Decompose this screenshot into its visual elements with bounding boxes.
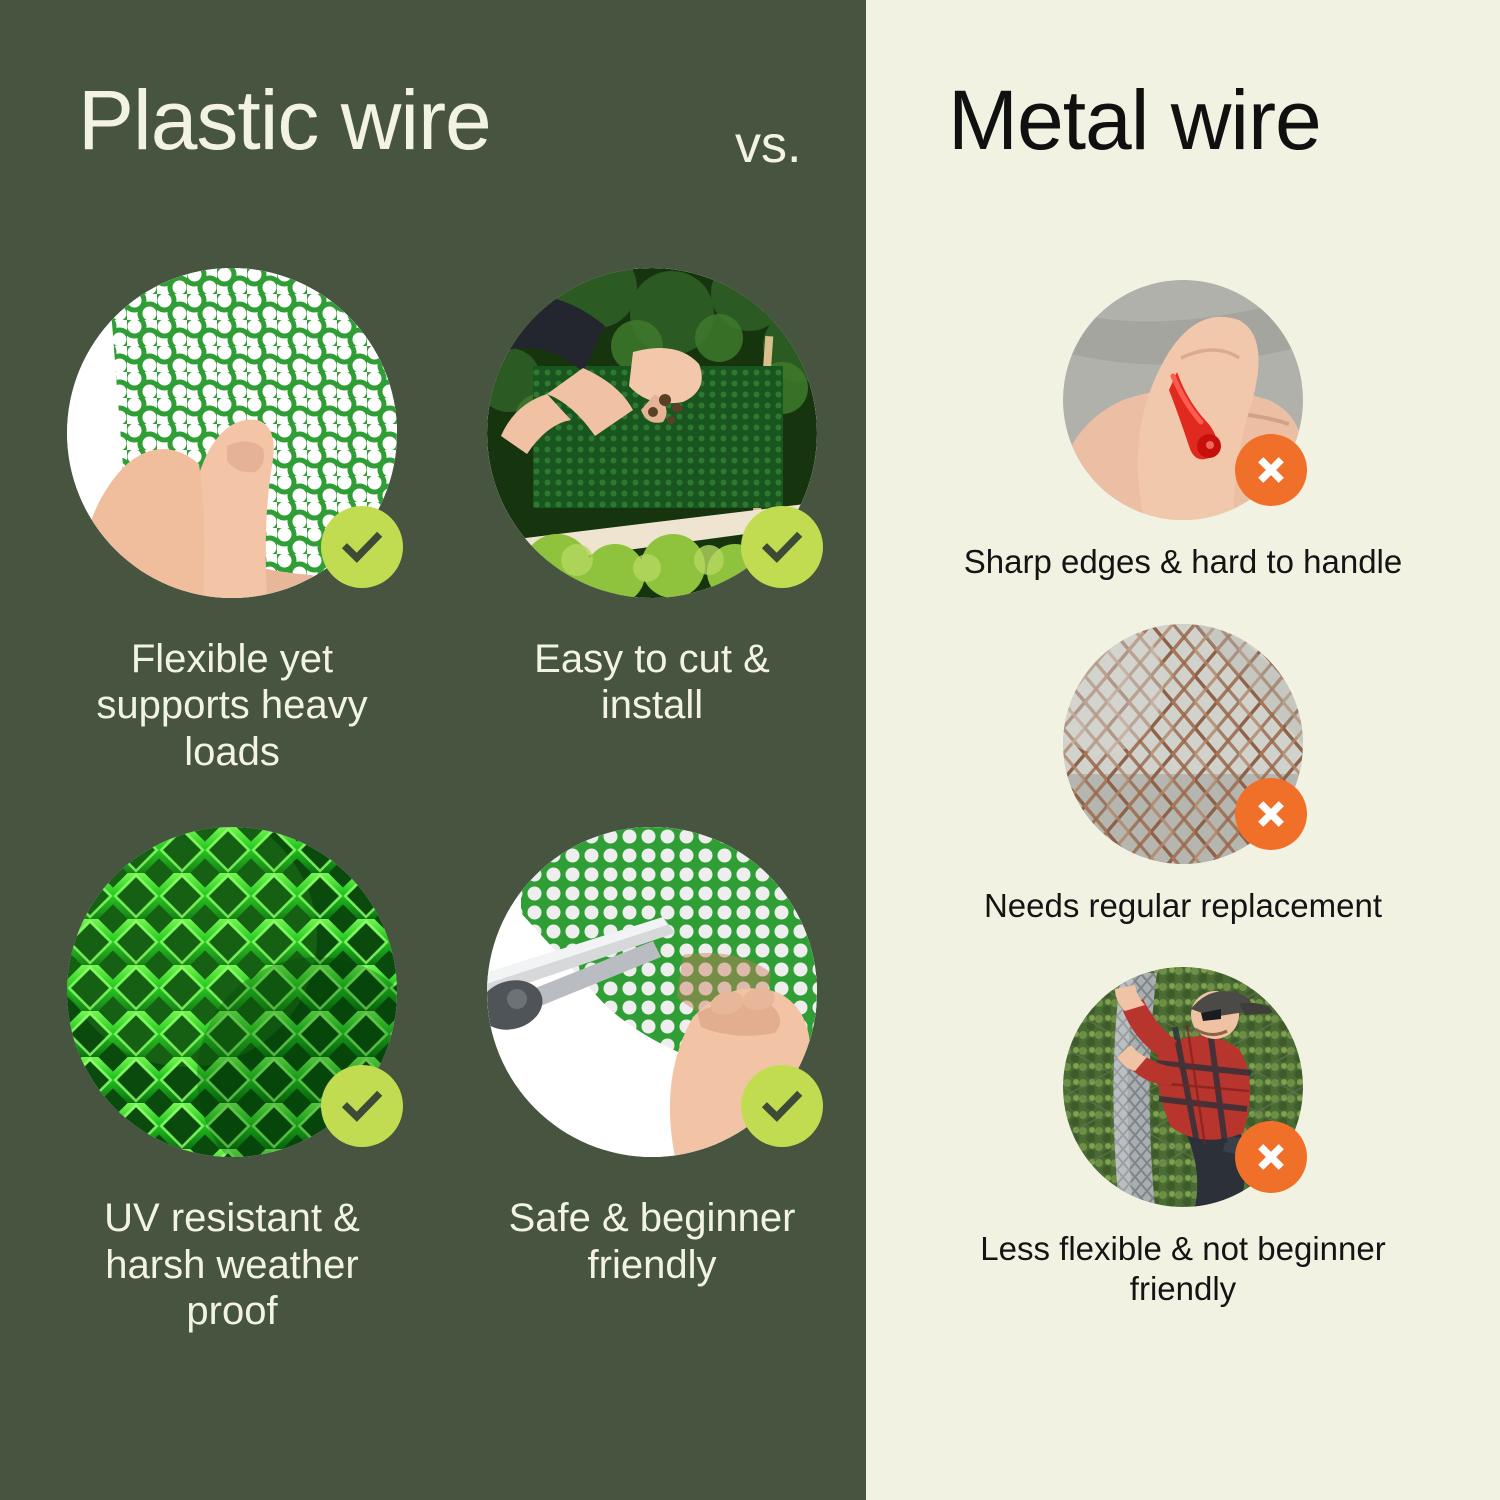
- check-icon: [741, 506, 823, 588]
- image-badge-wrap: [1063, 280, 1303, 520]
- drawback-caption: Less flexible & not beginner friendly: [923, 1229, 1443, 1308]
- benefit-caption: UV resistant & harsh weather proof: [62, 1195, 402, 1334]
- drawback-card-sharp-edges: Sharp edges & hard to handle: [903, 280, 1463, 582]
- benefit-caption: Safe & beginner friendly: [482, 1195, 822, 1288]
- vs-label: vs.: [735, 115, 801, 175]
- cross-icon: [1235, 1121, 1307, 1193]
- cross-icon: [1235, 434, 1307, 506]
- check-icon: [741, 1065, 823, 1147]
- image-badge-wrap: [487, 827, 817, 1157]
- image-badge-wrap: [1063, 967, 1303, 1207]
- benefit-card-flexible: Flexible yet supports heavy loads: [22, 268, 442, 775]
- page-title-metal: Metal wire: [948, 78, 1321, 162]
- page-title-plastic: Plastic wire: [78, 78, 491, 162]
- benefit-card-easy-install: Easy to cut & install: [442, 268, 862, 775]
- plastic-benefit-grid: Flexible yet supports heavy loads: [0, 268, 866, 1334]
- benefit-card-safe-beginner: Safe & beginner friendly: [442, 827, 862, 1334]
- benefit-caption: Flexible yet supports heavy loads: [62, 636, 402, 775]
- image-badge-wrap: [487, 268, 817, 598]
- image-badge-wrap: [67, 827, 397, 1157]
- benefit-card-uv-resistant: UV resistant & harsh weather proof: [22, 827, 442, 1334]
- metal-drawback-list: Sharp edges & hard to handle: [866, 280, 1500, 1308]
- plastic-wire-panel: Plastic wire vs.: [0, 0, 866, 1500]
- drawback-card-less-flexible: Less flexible & not beginner friendly: [903, 967, 1463, 1308]
- check-icon: [321, 506, 403, 588]
- image-badge-wrap: [67, 268, 397, 598]
- drawback-caption: Sharp edges & hard to handle: [923, 542, 1443, 582]
- benefit-caption: Easy to cut & install: [482, 636, 822, 729]
- drawback-card-replacement: Needs regular replacement: [903, 624, 1463, 926]
- comparison-infographic: Plastic wire vs.: [0, 0, 1500, 1500]
- metal-wire-panel: Metal wire: [866, 0, 1500, 1500]
- check-icon: [321, 1065, 403, 1147]
- drawback-caption: Needs regular replacement: [923, 886, 1443, 926]
- image-badge-wrap: [1063, 624, 1303, 864]
- cross-icon: [1235, 778, 1307, 850]
